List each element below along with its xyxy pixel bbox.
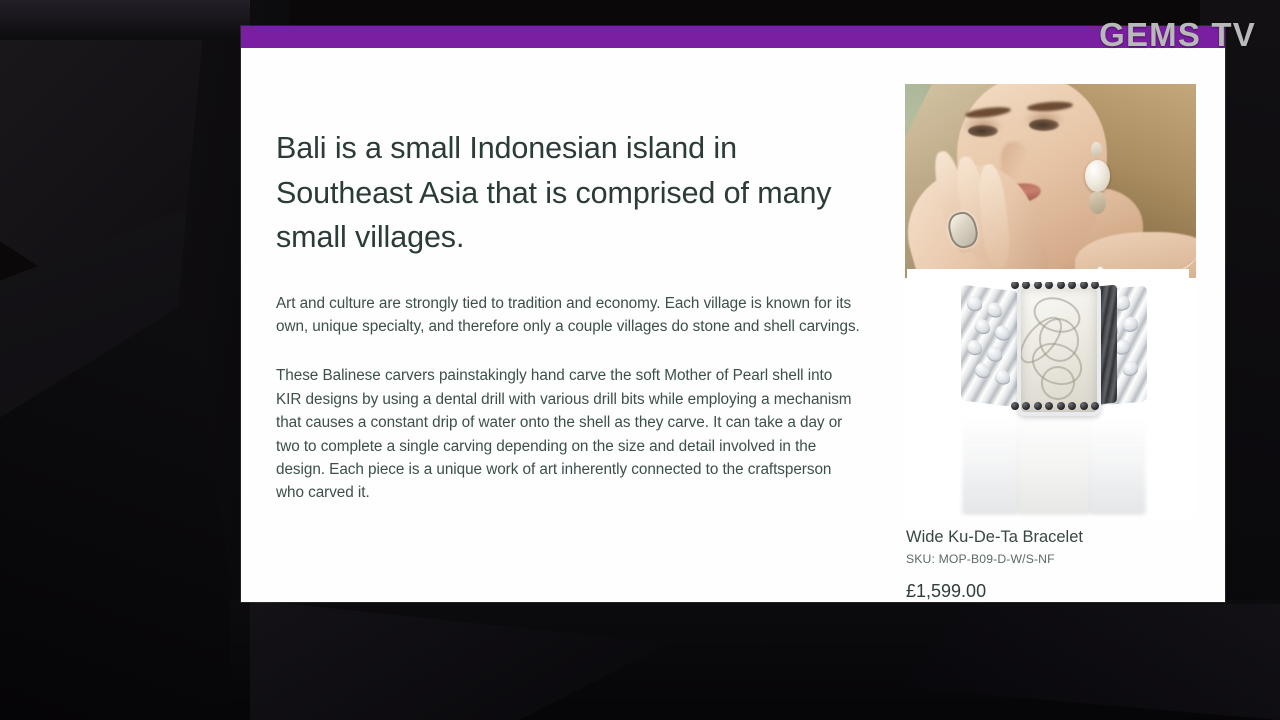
reflection-band bbox=[1089, 419, 1145, 515]
body-paragraph: These Balinese carvers painstakingly han… bbox=[276, 364, 861, 504]
product-name: Wide Ku-De-Ta Bracelet bbox=[906, 526, 1197, 548]
slide-content-area: Bali is a small Indonesian island in Sou… bbox=[241, 48, 1225, 602]
bracelet-bead bbox=[1034, 282, 1042, 289]
photo-bottom-strip bbox=[907, 269, 1189, 278]
product-details: Wide Ku-De-Ta Bracelet SKU: MOP-B09-D-W/… bbox=[905, 526, 1197, 603]
bracelet-scale bbox=[967, 295, 982, 312]
reflection-panel bbox=[1017, 411, 1091, 515]
bracelet-scale bbox=[1115, 339, 1130, 355]
bracelet-bead bbox=[1011, 402, 1019, 410]
model-eye bbox=[1029, 119, 1059, 131]
earring-pearl bbox=[1085, 160, 1110, 192]
bracelet-bead bbox=[1068, 402, 1076, 410]
bracelet-bead bbox=[1068, 282, 1076, 289]
bracelet-scale bbox=[975, 318, 990, 335]
earring-top bbox=[1091, 142, 1102, 157]
page-title: Bali is a small Indonesian island in Sou… bbox=[276, 126, 861, 260]
bracelet-bead bbox=[1080, 282, 1088, 289]
bracelet-scale bbox=[967, 339, 982, 356]
slide-card: Bali is a small Indonesian island in Sou… bbox=[241, 26, 1225, 602]
bracelet-scale bbox=[987, 302, 1002, 319]
product-photo bbox=[905, 282, 1196, 518]
bracelet-bead bbox=[1057, 282, 1065, 289]
bracelet-scale bbox=[975, 362, 990, 379]
bracelet-bead bbox=[1091, 282, 1099, 289]
bracelet-scale bbox=[1115, 295, 1130, 311]
text-column: Bali is a small Indonesian island in Sou… bbox=[276, 126, 861, 505]
backdrop-facet bbox=[0, 0, 250, 40]
product-reflection bbox=[961, 410, 1147, 515]
bracelet-graphic bbox=[961, 282, 1147, 412]
bracelet-bead bbox=[1045, 282, 1053, 289]
bracelet-scale bbox=[1123, 316, 1138, 332]
bracelet-scale bbox=[1123, 360, 1138, 376]
bracelet-band-left bbox=[961, 284, 1019, 407]
bracelet-bead bbox=[1091, 402, 1099, 410]
bracelet-bead bbox=[1011, 282, 1019, 289]
model-photo bbox=[905, 84, 1196, 278]
bracelet-bead bbox=[1022, 282, 1030, 289]
bracelet-bead-row-top bbox=[1011, 282, 1099, 290]
accent-bar bbox=[241, 26, 1225, 48]
carved-mother-of-pearl-panel bbox=[1017, 284, 1101, 416]
bracelet-scale bbox=[987, 346, 1002, 363]
bracelet-scale bbox=[995, 369, 1010, 386]
bracelet-scale bbox=[995, 325, 1010, 342]
bracelet-bead bbox=[1022, 402, 1030, 410]
bracelet-bead bbox=[1080, 402, 1088, 410]
product-column: Wide Ku-De-Ta Bracelet SKU: MOP-B09-D-W/… bbox=[905, 84, 1197, 603]
product-price: £1,599.00 bbox=[906, 579, 1197, 603]
earring-drop bbox=[1089, 192, 1106, 214]
reflection-band bbox=[963, 419, 1019, 515]
bracelet-bead bbox=[1045, 402, 1053, 410]
body-paragraph: Art and culture are strongly tied to tra… bbox=[276, 292, 861, 339]
bracelet-bead bbox=[1057, 402, 1065, 410]
bracelet-bead bbox=[1034, 402, 1042, 410]
model-eye bbox=[968, 125, 998, 137]
product-sku: SKU: MOP-B09-D-W/S-NF bbox=[906, 551, 1197, 567]
